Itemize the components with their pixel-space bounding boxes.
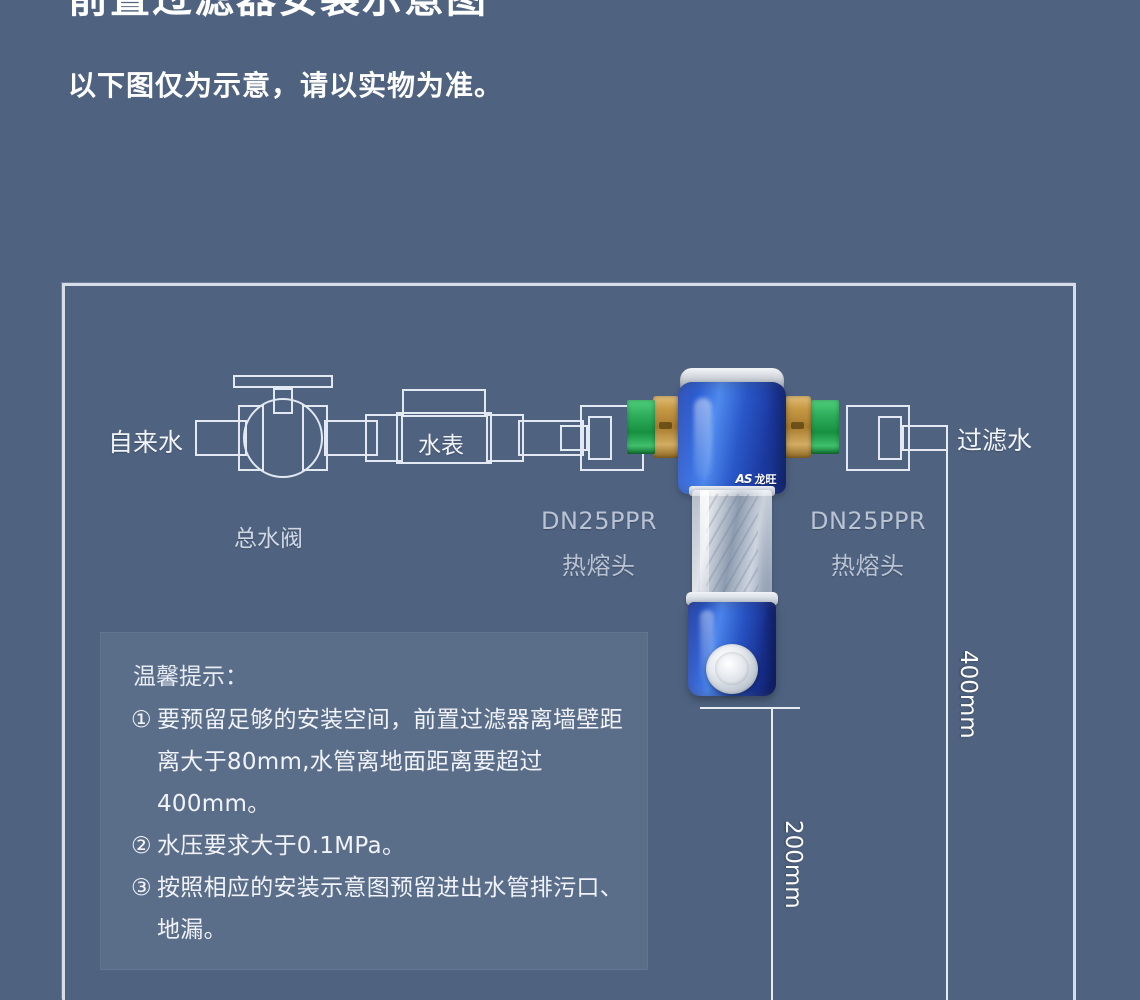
left-fitting-label-line2: 热熔头: [562, 546, 636, 581]
product-head: AS 龙旺: [678, 382, 786, 494]
outlet-elbow-horizontal: [902, 449, 948, 451]
main-valve-label: 总水阀: [234, 519, 303, 553]
page-subtitle: 以下图仅为示意，请以实物为准。: [68, 64, 503, 104]
water-meter-label: 水表: [418, 426, 464, 460]
dim-200-line: [771, 707, 773, 1000]
outlet-pipe: [902, 425, 948, 451]
installation-diagram-page: 前置过滤器安装示意图 以下图仅为示意，请以实物为准。 水表 自来水 总水阀 过滤…: [0, 0, 1140, 1000]
main-valve-handle: [233, 375, 333, 388]
water-meter-dial: [402, 389, 486, 417]
tips-item-text: 要预留足够的安装空间，前置过滤器离墙壁距离大于80mm,水管离地面距离要超过40…: [157, 707, 623, 817]
ppr-fitting-right: [811, 400, 839, 454]
flush-valve-knob[interactable]: [706, 644, 758, 694]
tips-item-number: ①: [131, 699, 152, 741]
tips-item-text: 水压要求大于0.1MPa。: [157, 833, 405, 859]
outlet-label: 过滤水: [957, 421, 1032, 457]
right-fitting-label-line2: 热熔头: [831, 546, 905, 581]
tips-item-number: ③: [131, 867, 152, 909]
tips-title: 温馨提示：: [133, 657, 248, 691]
tips-item: ② 水压要求大于0.1MPa。: [131, 825, 631, 867]
dim-200-tick: [700, 707, 800, 709]
tips-item: ③ 按照相应的安装示意图预留进出水管排污口、地漏。: [131, 867, 631, 951]
ppr-fitting-left: [627, 400, 655, 454]
tips-item-number: ②: [131, 825, 152, 867]
brass-nut-left: [653, 396, 679, 458]
ppr-socket-left-inner: [588, 416, 612, 460]
brass-nut-right: [785, 396, 811, 458]
outlet-drop-line: [946, 430, 948, 1000]
main-valve-flange-left: [238, 405, 264, 471]
left-fitting-label-line1: DN25PPR: [541, 507, 657, 535]
tips-panel: 温馨提示： ① 要预留足够的安装空间，前置过滤器离墙壁距离大于80mm,水管离地…: [100, 632, 648, 970]
filter-cup: [692, 490, 772, 598]
tips-item: ① 要预留足够的安装空间，前置过滤器离墙壁距离大于80mm,水管离地面距离要超过…: [131, 699, 631, 825]
page-title: 前置过滤器安装示意图: [68, 0, 488, 24]
pipe-stub-left: [560, 425, 588, 451]
brand-mark: AS: [736, 472, 752, 486]
dim-200-label: 200mm: [780, 820, 806, 909]
tips-item-text: 按照相应的安装示意图预留进出水管排污口、地漏。: [157, 875, 623, 943]
main-valve-stem: [273, 388, 293, 414]
inlet-label: 自来水: [108, 423, 183, 459]
brand-name: 龙旺: [754, 471, 776, 487]
pre-filter-product: AS 龙旺: [655, 368, 835, 708]
ppr-socket-right-inner: [878, 416, 902, 460]
tips-list: ① 要预留足够的安装空间，前置过滤器离墙壁距离大于80mm,水管离地面距离要超过…: [131, 699, 631, 951]
dim-400-label: 400mm: [955, 650, 981, 739]
